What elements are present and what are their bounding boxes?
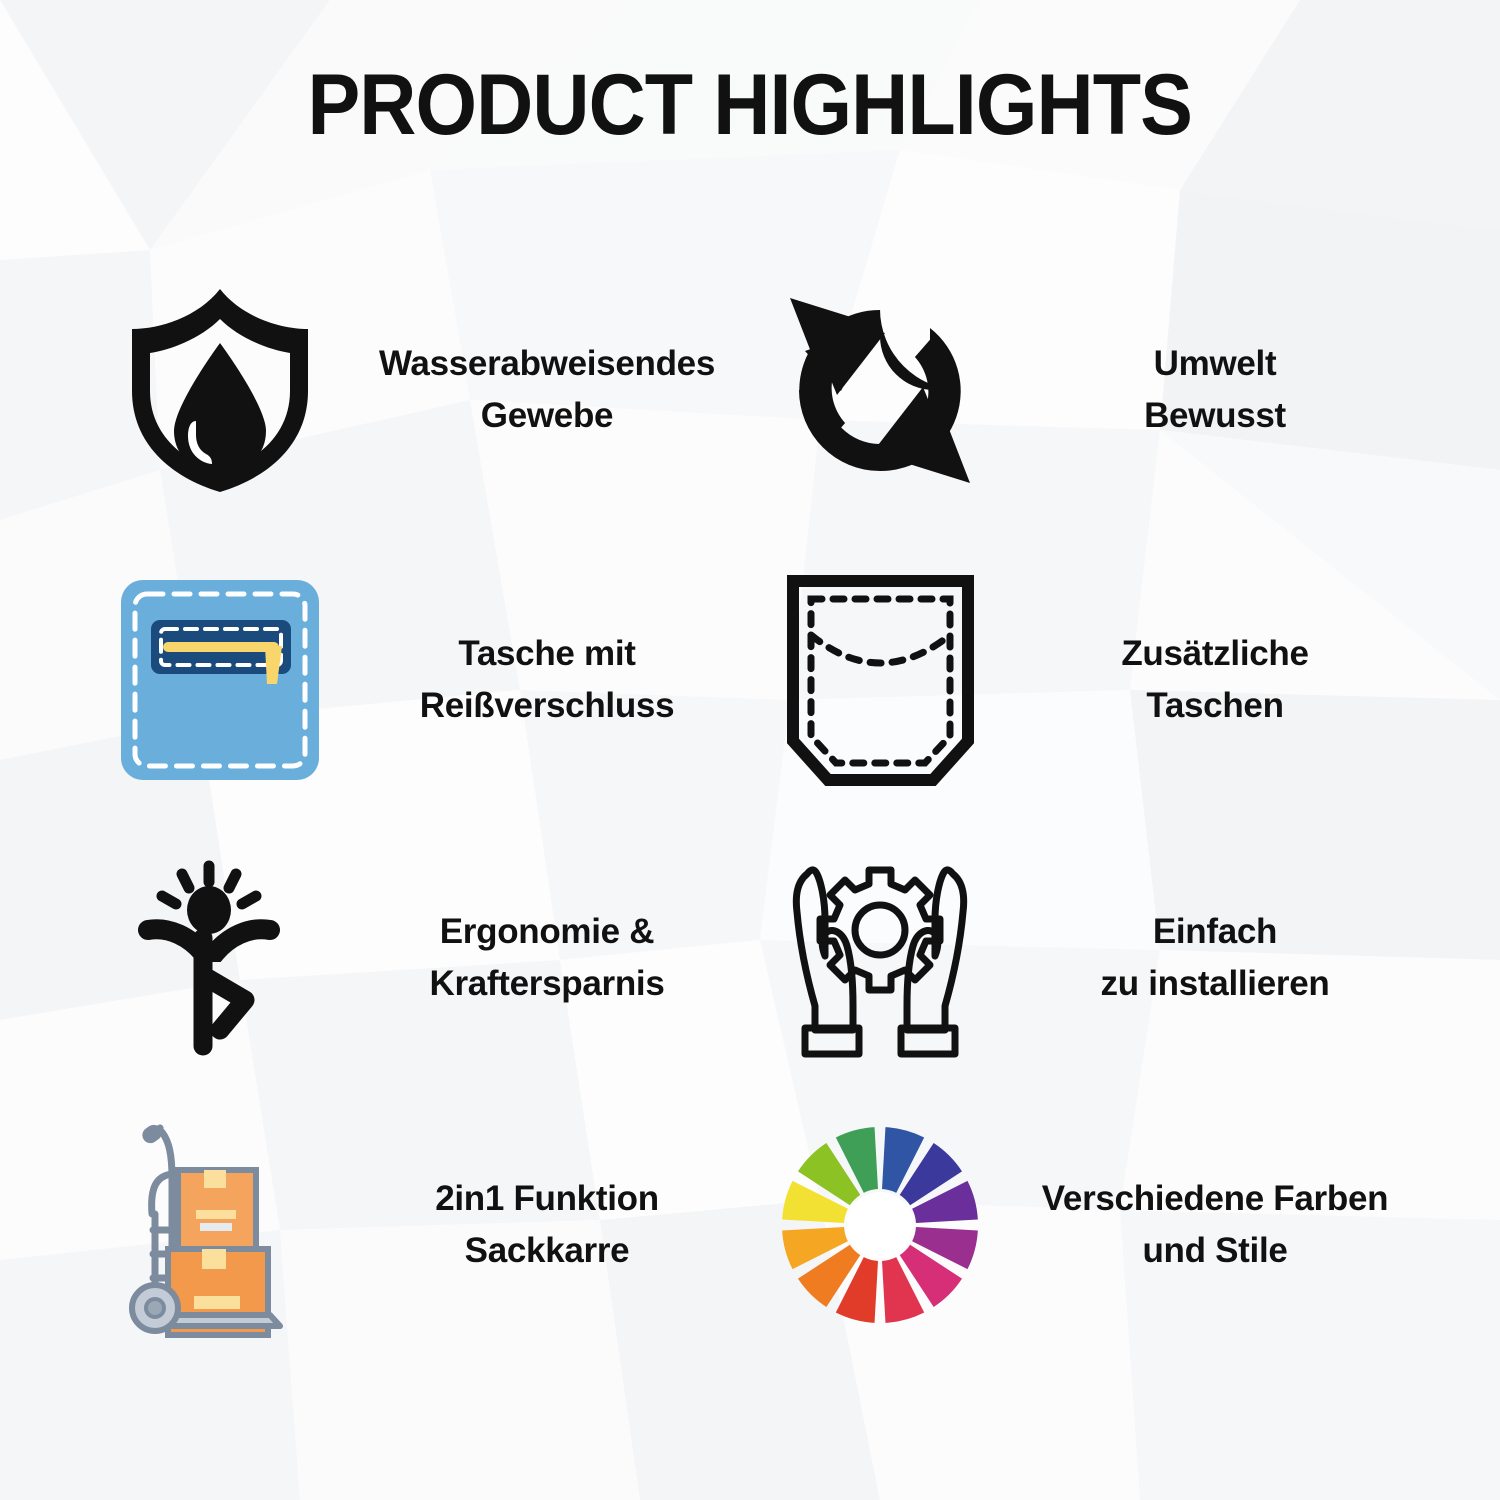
feature-ergonomics: Ergonomie & Kraftersparnis [95, 825, 755, 1090]
feature-label-line1: Einfach [1153, 912, 1277, 951]
feature-zipper-pocket: Tasche mit Reißverschluss [95, 535, 755, 825]
icon-slot [755, 573, 1005, 788]
feature-label-line1: Wasserabweisendes [379, 344, 715, 383]
feature-label: Tasche mit Reißverschluss [339, 628, 755, 732]
feature-label-line1: Tasche mit [458, 634, 635, 673]
feature-label-line2: Kraftersparnis [345, 958, 749, 1010]
hand-truck-icon [120, 1118, 320, 1333]
zipper-pocket-icon [115, 576, 325, 784]
feature-label-line1: Zusätzliche [1121, 634, 1308, 673]
feature-label: Einfach zu installieren [1015, 906, 1415, 1010]
hands-holding-gear-icon [785, 860, 975, 1055]
icon-slot [95, 573, 345, 788]
feature-label-line2: zu installieren [1021, 958, 1409, 1010]
feature-label-line2: Gewebe [345, 390, 749, 442]
feature-label-line2: und Stile [1021, 1225, 1409, 1277]
feature-label: Ergonomie & Kraftersparnis [339, 906, 755, 1010]
recycle-arrows-icon [775, 283, 985, 498]
feature-label: 2in1 Funktion Sackkarre [339, 1173, 755, 1277]
feature-extra-pockets: Zusätzliche Taschen [755, 535, 1415, 825]
feature-label: Umwelt Bewusst [1015, 338, 1415, 442]
feature-label-line1: 2in1 Funktion [435, 1179, 659, 1218]
feature-label: Zusätzliche Taschen [1015, 628, 1415, 732]
feature-two-in-one: 2in1 Funktion Sackkarre [95, 1090, 755, 1360]
icon-slot [95, 850, 345, 1065]
icon-slot [95, 1118, 345, 1333]
icon-slot [755, 283, 1005, 498]
feature-label-line1: Umwelt [1154, 344, 1277, 383]
feature-label-line1: Ergonomie & [440, 912, 655, 951]
feature-label-line2: Taschen [1021, 680, 1409, 732]
page-title: PRODUCT HIGHLIGHTS [308, 62, 1193, 148]
icon-slot [755, 850, 1005, 1065]
feature-colors-styles: Verschiedene Farben und Stile [755, 1090, 1415, 1360]
page-title-wrap: PRODUCT HIGHLIGHTS [0, 62, 1500, 148]
feature-easy-install: Einfach zu installieren [755, 825, 1415, 1090]
feature-label-line1: Verschiedene Farben [1042, 1179, 1388, 1218]
feature-label: Wasserabweisendes Gewebe [339, 338, 755, 442]
icon-slot [95, 283, 345, 498]
feature-label-line2: Reißverschluss [345, 680, 749, 732]
happy-person-icon [140, 860, 300, 1055]
feature-eco-conscious: Umwelt Bewusst [755, 245, 1415, 535]
color-wheel-icon [780, 1125, 980, 1325]
product-highlights-page: PRODUCT HIGHLIGHTS Wasserabweisendes Gew… [0, 0, 1500, 1500]
feature-label: Verschiedene Farben und Stile [1015, 1173, 1415, 1277]
feature-water-repellent: Wasserabweisendes Gewebe [95, 245, 755, 535]
feature-grid: Wasserabweisendes Gewebe [95, 245, 1415, 1360]
feature-label-line2: Bewusst [1021, 390, 1409, 442]
stitched-pocket-icon [783, 573, 978, 788]
icon-slot [755, 1118, 1005, 1333]
shield-water-drop-icon [120, 283, 320, 498]
feature-label-line2: Sackkarre [345, 1225, 749, 1277]
